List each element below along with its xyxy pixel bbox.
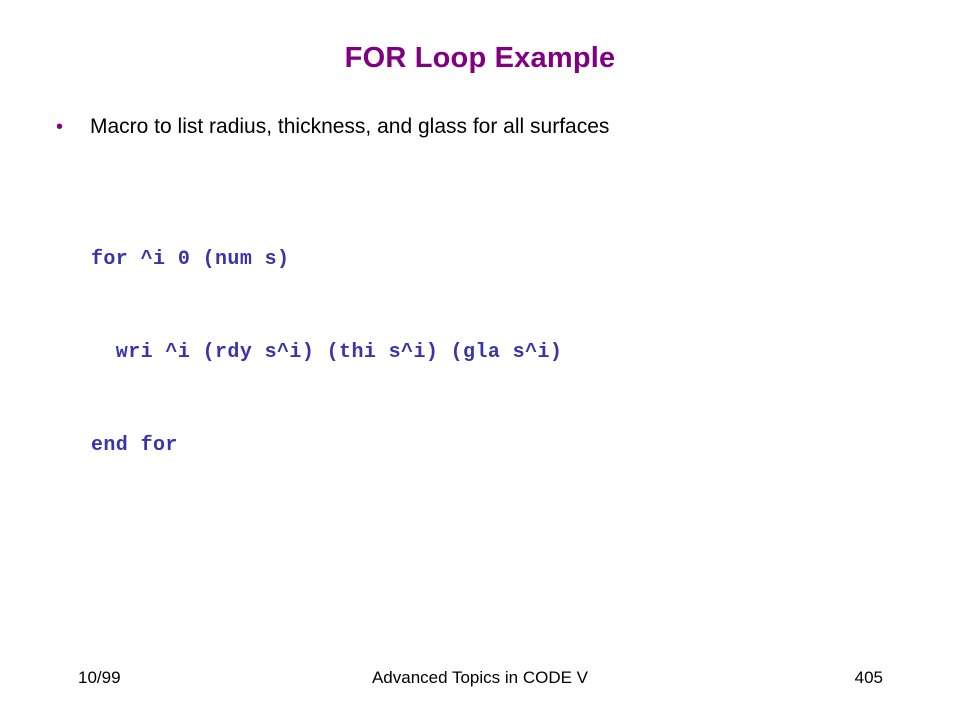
code-line: end for bbox=[91, 430, 562, 461]
slide-footer: 10/99 Advanced Topics in CODE V 405 bbox=[0, 668, 960, 696]
code-line: for ^i 0 (num s) bbox=[91, 244, 562, 275]
code-line: wri ^i (rdy s^i) (thi s^i) (gla s^i) bbox=[91, 337, 562, 368]
page-title: FOR Loop Example bbox=[0, 42, 960, 75]
bullet-point-icon: • bbox=[56, 112, 90, 142]
footer-page-number: 405 bbox=[855, 668, 883, 688]
footer-title: Advanced Topics in CODE V bbox=[0, 668, 960, 688]
slide-body: • Macro to list radius, thickness, and g… bbox=[0, 112, 960, 146]
slide-canvas: FOR Loop Example • Macro to list radius,… bbox=[0, 0, 960, 720]
bullet-item-label: Macro to list radius, thickness, and gla… bbox=[90, 112, 609, 142]
list-item: • Macro to list radius, thickness, and g… bbox=[0, 112, 960, 146]
code-block: for ^i 0 (num s) wri ^i (rdy s^i) (thi s… bbox=[91, 182, 562, 523]
